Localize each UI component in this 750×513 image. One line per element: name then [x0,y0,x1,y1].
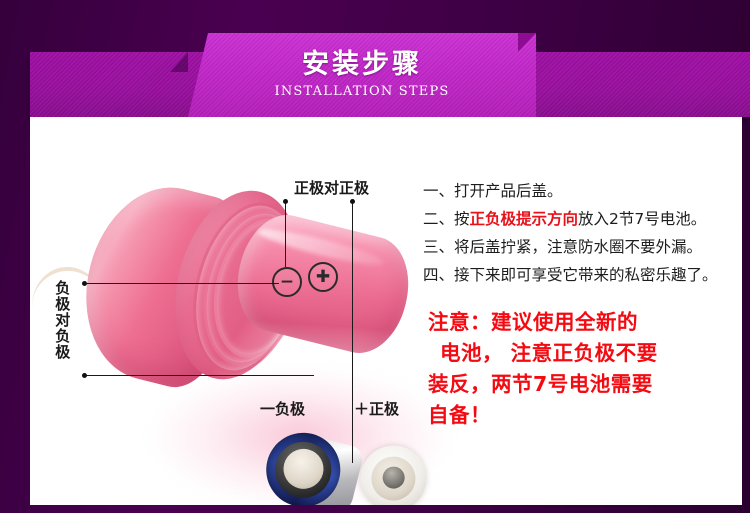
warning-line: 装反，两节7号电池需要 [428,369,742,400]
callout-label-positive-terminal: ＋正极 [354,398,399,419]
callout-dot-negative-upper [82,281,87,286]
callout-line-positive [352,201,353,463]
callout-label-negative-to-negative: 负极对负极 [54,280,70,390]
step-prefix: 二、 [423,210,454,228]
step-text: 将后盖拧紧，注意防水圈不要外漏。 [454,238,702,256]
instruction-list: 一、打开产品后盖。 二、按正负极提示方向放入2节7号电池。 三、将后盖拧紧，注意… [423,177,733,289]
content-panel: − ✚ 正极对正极 负极对负极 一负极 ＋正极 一、打开产品后盖。 二、按正负极… [30,117,742,505]
callout-line-negative-upper [84,283,279,284]
product-photo: − ✚ [30,117,430,505]
callout-line-negative-lower [84,375,314,376]
step-text-after: 放入2节7号电池。 [578,210,706,228]
warning-block: 注意：建议使用全新的 电池， 注意正负极不要 装反，两节7号电池需要 自备！ [428,307,742,431]
step-highlight: 正负极提示方向 [470,210,579,228]
step-prefix: 一、 [423,182,454,200]
instruction-step: 一、打开产品后盖。 [423,177,733,205]
instruction-step: 四、接下来即可享受它带来的私密乐趣了。 [423,261,733,289]
header-banner: 安装步骤 INSTALLATION STEPS [0,0,750,124]
step-text: 接下来即可享受它带来的私密乐趣了。 [454,266,718,284]
step-prefix: 四、 [423,266,454,284]
callout-dot-positive [350,199,355,204]
callout-dot-minus [283,199,288,204]
ribbon-fold-left [170,52,188,72]
banner-text-group: 安装步骤 INSTALLATION STEPS [188,33,536,117]
banner-title: 安装步骤 [302,51,422,79]
step-text: 打开产品后盖。 [454,182,563,200]
step-text-before: 按 [454,210,470,228]
instruction-step: 二、按正负极提示方向放入2节7号电池。 [423,205,733,233]
plus-symbol-icon: ✚ [308,262,338,292]
callout-label-positive-to-positive: 正极对正极 [294,177,369,198]
warning-line: 自备！ [428,400,742,431]
banner-subtitle: INSTALLATION STEPS [275,84,450,99]
installation-steps-page: 安装步骤 INSTALLATION STEPS [0,0,750,513]
minus-symbol-icon: − [272,267,302,297]
warning-line: 注意：建议使用全新的 [428,307,742,338]
instruction-step: 三、将后盖拧紧，注意防水圈不要外漏。 [423,233,733,261]
callout-label-negative-terminal: 一负极 [260,398,305,419]
callout-line-minus [285,201,286,267]
warning-line: 电池， 注意正负极不要 [428,338,742,369]
step-prefix: 三、 [423,238,454,256]
callout-dot-negative-lower [82,373,87,378]
